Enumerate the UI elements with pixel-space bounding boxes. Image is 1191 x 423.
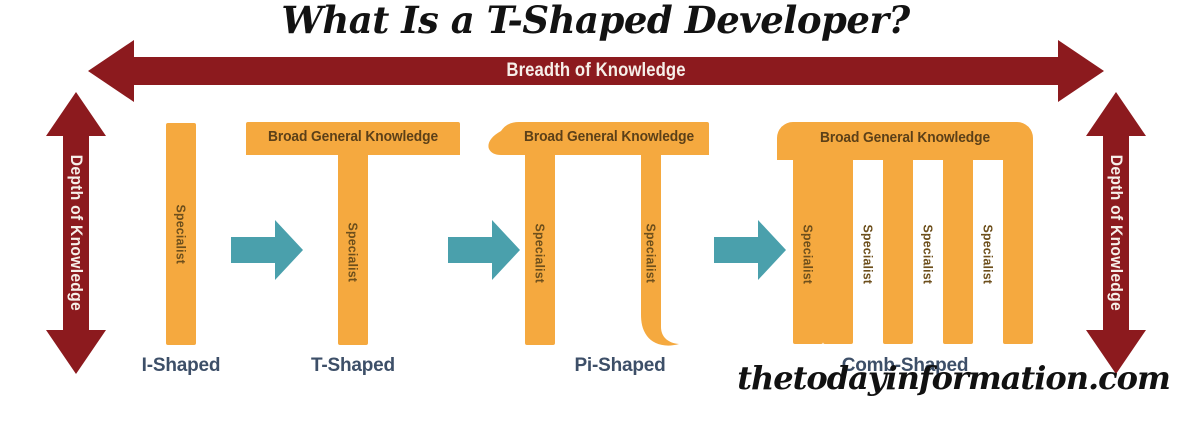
infographic-canvas: What Is a T-Shaped Developer? Breadth of… bbox=[0, 0, 1191, 423]
shape-label-pi-shaped: Pi-Shaped bbox=[545, 355, 695, 377]
arrow-pi-to-comb bbox=[714, 220, 786, 280]
depth-of-knowledge-arrow-right: Depth of Knowledge bbox=[1086, 92, 1146, 374]
figure-i-shaped: Specialist bbox=[166, 123, 196, 345]
page-title: What Is a T-Shaped Developer? bbox=[0, 0, 1191, 42]
site-watermark: thetodayinformation.com bbox=[716, 359, 1191, 397]
breadth-of-knowledge-arrow: Breadth of Knowledge bbox=[88, 40, 1104, 102]
shape-label-i-shaped: I-Shaped bbox=[106, 355, 256, 377]
figure-comb-shaped: Broad General Knowledge Specialist Speci… bbox=[777, 122, 1033, 344]
shape-label-t-shaped: T-Shaped bbox=[278, 355, 428, 377]
figure-pi-shaped: Broad General Knowledge Specialist Speci… bbox=[487, 122, 709, 354]
depth-of-knowledge-arrow-left: Depth of Knowledge bbox=[46, 92, 106, 374]
figure-t-shaped: Broad General Knowledge Specialist bbox=[246, 122, 460, 345]
